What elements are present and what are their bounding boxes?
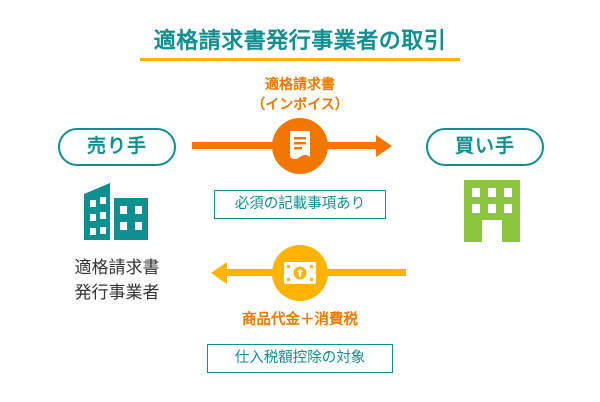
diagram-canvas: 適格請求書発行事業者の取引 売り手 買い手 <box>0 0 600 402</box>
invoice-arrow-head <box>376 135 392 157</box>
invoice-arrow-shaft-left <box>192 142 278 149</box>
invoice-label: 適格請求書 （インボイス） <box>215 74 385 114</box>
invoice-label-line2: （インボイス） <box>215 94 385 114</box>
required-items-note: 必須の記載事項あり <box>214 190 386 219</box>
payment-arrow-head <box>211 262 227 284</box>
title-underline <box>140 58 460 61</box>
payment-arrow-shaft-left <box>227 269 275 276</box>
seller-caption: 適格請求書 発行事業者 <box>28 255 206 305</box>
deduction-note: 仕入税額控除の対象 <box>207 344 393 373</box>
invoice-document-icon <box>272 118 328 174</box>
invoice-arrow-shaft-right <box>322 142 376 149</box>
price-label: 商品代金＋消費税 <box>205 308 395 329</box>
seller-caption-line2: 発行事業者 <box>28 280 206 305</box>
page-title: 適格請求書発行事業者の取引 <box>0 23 600 55</box>
payment-arrow-shaft-right <box>322 269 406 276</box>
invoice-label-line1: 適格請求書 <box>215 74 385 94</box>
money-bill-icon <box>272 245 328 301</box>
seller-building-icon <box>80 178 152 245</box>
seller-caption-line1: 適格請求書 <box>28 255 206 280</box>
buyer-pill: 買い手 <box>426 128 544 166</box>
buyer-building-icon <box>460 176 524 247</box>
seller-pill: 売り手 <box>58 128 176 166</box>
